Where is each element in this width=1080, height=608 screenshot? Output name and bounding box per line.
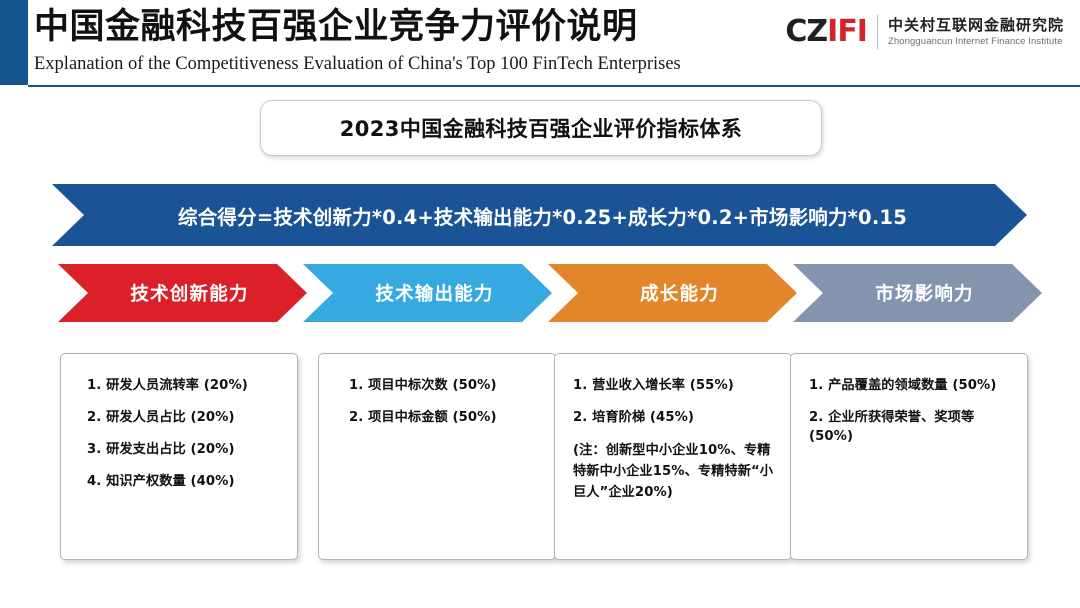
dimension-chevron-tech-output[interactable]: 技术输出能力 [303, 264, 552, 322]
indicator-system-title: 2023中国金融科技百强企业评价指标体系 [340, 113, 742, 143]
header-divider [28, 85, 1080, 87]
dimension-label: 技术创新能力 [130, 280, 248, 306]
indicator-item: 2. 企业所获得荣誉、奖项等 (50%) [809, 408, 1013, 446]
page-subtitle: Explanation of the Competitiveness Evalu… [34, 51, 754, 77]
indicator-item: 2. 项目中标金额 (50%) [349, 408, 541, 427]
logo-divider [877, 15, 878, 49]
dimension-chevron-growth[interactable]: 成长能力 [548, 264, 797, 322]
indicator-card-market-influence: 1. 产品覆盖的领域数量 (50%) 2. 企业所获得荣誉、奖项等 (50%) [790, 353, 1028, 560]
institute-logo: CZ IFI 中关村互联网金融研究院 Zhongguancun Internet… [785, 10, 1064, 54]
logo-mark-dark: CZ [785, 17, 827, 47]
dimension-label: 市场影响力 [875, 280, 974, 306]
indicator-item: 1. 产品覆盖的领域数量 (50%) [809, 376, 1013, 395]
page-title: 中国金融科技百强企业竞争力评价说明 [34, 4, 754, 50]
indicator-item: 1. 项目中标次数 (50%) [349, 376, 541, 395]
indicator-item-note: (注：创新型中小企业10%、专精特新中小企业15%、专精特新“小巨人”企业20%… [573, 440, 777, 503]
header-accent-bar [0, 0, 28, 85]
indicator-item: 2. 研发人员占比 (20%) [87, 408, 283, 427]
indicator-system-title-box: 2023中国金融科技百强企业评价指标体系 [260, 100, 822, 156]
composite-score-formula: 综合得分=技术创新力*0.4+技术输出能力*0.25+成长力*0.2+市场影响力… [178, 201, 907, 230]
indicator-card-tech-output: 1. 项目中标次数 (50%) 2. 项目中标金额 (50%) [318, 353, 556, 560]
indicator-item: 3. 研发支出占比 (20%) [87, 440, 283, 459]
indicator-item: 1. 研发人员流转率 (20%) [87, 376, 283, 395]
logo-name-chinese: 中关村互联网金融研究院 [888, 16, 1064, 35]
indicator-cards-row: 1. 研发人员流转率 (20%) 2. 研发人员占比 (20%) 3. 研发支出… [0, 353, 1080, 568]
composite-score-formula-banner: 综合得分=技术创新力*0.4+技术输出能力*0.25+成长力*0.2+市场影响力… [52, 184, 1027, 246]
logo-mark-red: IFI [827, 17, 867, 47]
indicator-item: 4. 知识产权数量 (40%) [87, 472, 283, 491]
dimension-label: 成长能力 [640, 280, 719, 306]
logo-name-english: Zhongguancun Internet Finance Institute [888, 35, 1064, 48]
indicator-item: 2. 培育阶梯 (45%) [573, 408, 777, 427]
dimension-chevron-row: 技术创新能力 技术输出能力 成长能力 市场影响力 [0, 264, 1080, 322]
logo-text-block: 中关村互联网金融研究院 Zhongguancun Internet Financ… [888, 16, 1064, 48]
indicator-card-growth: 1. 营业收入增长率 (55%) 2. 培育阶梯 (45%) (注：创新型中小企… [554, 353, 792, 560]
dimension-chevron-tech-innovation[interactable]: 技术创新能力 [58, 264, 307, 322]
indicator-item: 1. 营业收入增长率 (55%) [573, 376, 777, 395]
indicator-card-tech-innovation: 1. 研发人员流转率 (20%) 2. 研发人员占比 (20%) 3. 研发支出… [60, 353, 298, 560]
dimension-chevron-market-influence[interactable]: 市场影响力 [793, 264, 1042, 322]
title-block: 中国金融科技百强企业竞争力评价说明 Explanation of the Com… [34, 4, 754, 77]
dimension-label: 技术输出能力 [375, 280, 493, 306]
logo-wordmark-icon: CZ IFI [785, 17, 867, 47]
page-header: 中国金融科技百强企业竞争力评价说明 Explanation of the Com… [0, 0, 1080, 92]
